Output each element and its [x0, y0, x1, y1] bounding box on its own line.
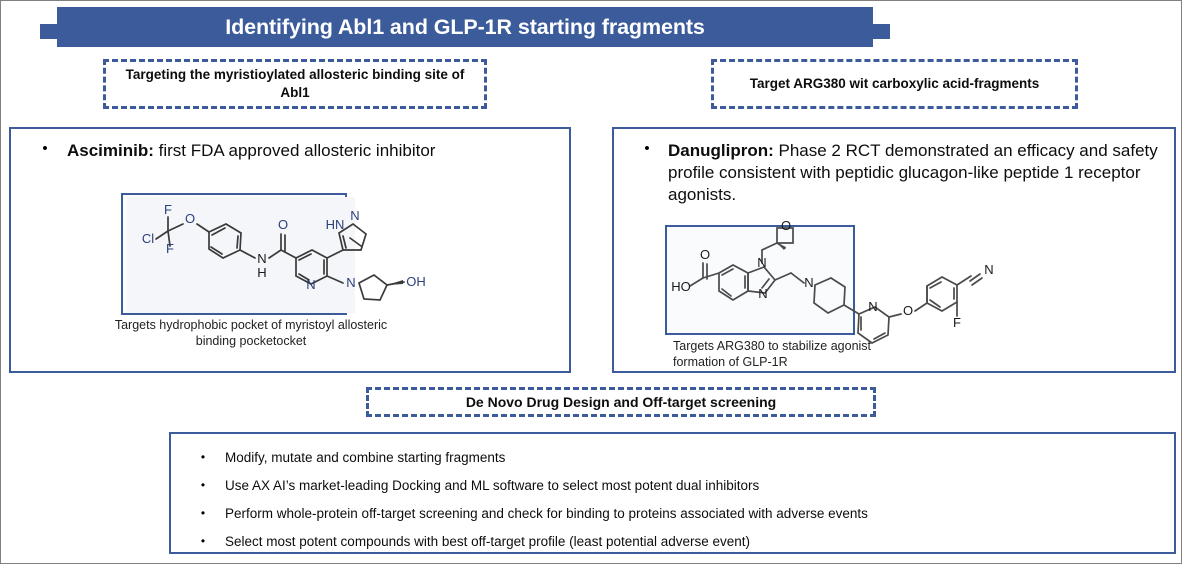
asciminib-structure: F F Cl O O N H N HN N N OH: [121, 193, 466, 317]
atom-label-O: O: [700, 247, 710, 262]
asciminib-caption: Targets hydrophobic pocket of myristoyl …: [105, 317, 397, 350]
atom-label-N: N: [346, 275, 355, 290]
panel-abl1-headline: • Asciminib: first FDA approved alloster…: [23, 140, 559, 161]
callout-left-text: Targeting the myristioylated allosteric …: [106, 66, 484, 102]
list-item: • Modify, mutate and combine starting fr…: [181, 444, 1164, 470]
bullet-marker: •: [626, 140, 668, 206]
panel-abl1-text: Asciminib: first FDA approved allosteric…: [67, 140, 435, 161]
list-item-label: Select most potent compounds with best o…: [225, 534, 750, 549]
atom-label-Cl: Cl: [142, 231, 154, 246]
panel-glp1r-lead: Danuglipron:: [668, 141, 774, 160]
atom-label-F: F: [953, 315, 961, 330]
list-item-label: Use AX AI’s market-leading Docking and M…: [225, 478, 759, 493]
bullet-marker: •: [181, 478, 225, 493]
atom-label-N: N: [257, 251, 266, 266]
bullet-marker: •: [23, 140, 67, 161]
atom-label-H: H: [257, 265, 266, 280]
panel-glp1r-text: Danuglipron: Phase 2 RCT demonstrated an…: [668, 140, 1166, 206]
panel-abl1-body: first FDA approved allosteric inhibitor: [154, 141, 436, 160]
atom-label-O: O: [185, 211, 195, 226]
atom-label-N: N: [306, 277, 315, 292]
list-item: • Use AX AI’s market-leading Docking and…: [181, 472, 1164, 498]
callout-right-text: Target ARG380 wit carboxylic acid-fragme…: [744, 75, 1046, 93]
atom-label-N: N: [868, 299, 877, 314]
atom-label-HN: HN: [326, 217, 345, 232]
atom-label-N: N: [350, 208, 359, 223]
title-ribbon: Identifying Abl1 and GLP-1R starting fra…: [40, 4, 890, 50]
atom-label-HO: HO: [671, 279, 691, 294]
panel-workflow: • Modify, mutate and combine starting fr…: [169, 432, 1176, 554]
callout-right-dashed: Target ARG380 wit carboxylic acid-fragme…: [711, 59, 1078, 109]
bullet-marker: •: [181, 534, 225, 549]
bullet-marker: •: [181, 450, 225, 465]
atom-label-N: N: [984, 262, 993, 277]
callout-left-dashed: Targeting the myristioylated allosteric …: [103, 59, 487, 109]
atom-label-N: N: [757, 255, 766, 270]
atom-label-O: O: [903, 303, 913, 318]
ribbon-body: Identifying Abl1 and GLP-1R starting fra…: [57, 7, 873, 47]
callout-bottom-dashed: De Novo Drug Design and Off-target scree…: [366, 387, 876, 417]
page-title: Identifying Abl1 and GLP-1R starting fra…: [225, 15, 705, 40]
bullet-marker: •: [181, 506, 225, 521]
panel-abl1-lead: Asciminib:: [67, 141, 154, 160]
atom-label-O: O: [781, 218, 791, 233]
atom-label-N: N: [804, 275, 813, 290]
atom-label-F: F: [166, 241, 174, 256]
slide-canvas: Identifying Abl1 and GLP-1R starting fra…: [1, 1, 1181, 563]
list-item: • Perform whole-protein off-target scree…: [181, 500, 1164, 526]
list-item-label: Modify, mutate and combine starting frag…: [225, 450, 505, 465]
atom-label-OH: OH: [406, 274, 426, 289]
danuglipron-caption: Targets ARG380 to stabilize agonist form…: [673, 338, 883, 371]
workflow-list: • Modify, mutate and combine starting fr…: [181, 444, 1164, 556]
list-item: • Select most potent compounds with best…: [181, 528, 1164, 554]
atom-label-O: O: [278, 217, 288, 232]
list-item-label: Perform whole-protein off-target screeni…: [225, 506, 868, 521]
panel-glp1r-headline: • Danuglipron: Phase 2 RCT demonstrated …: [626, 140, 1166, 206]
atom-label-F: F: [164, 202, 172, 217]
callout-bottom-text: De Novo Drug Design and Off-target scree…: [460, 393, 782, 412]
atom-label-N: N: [758, 286, 767, 301]
